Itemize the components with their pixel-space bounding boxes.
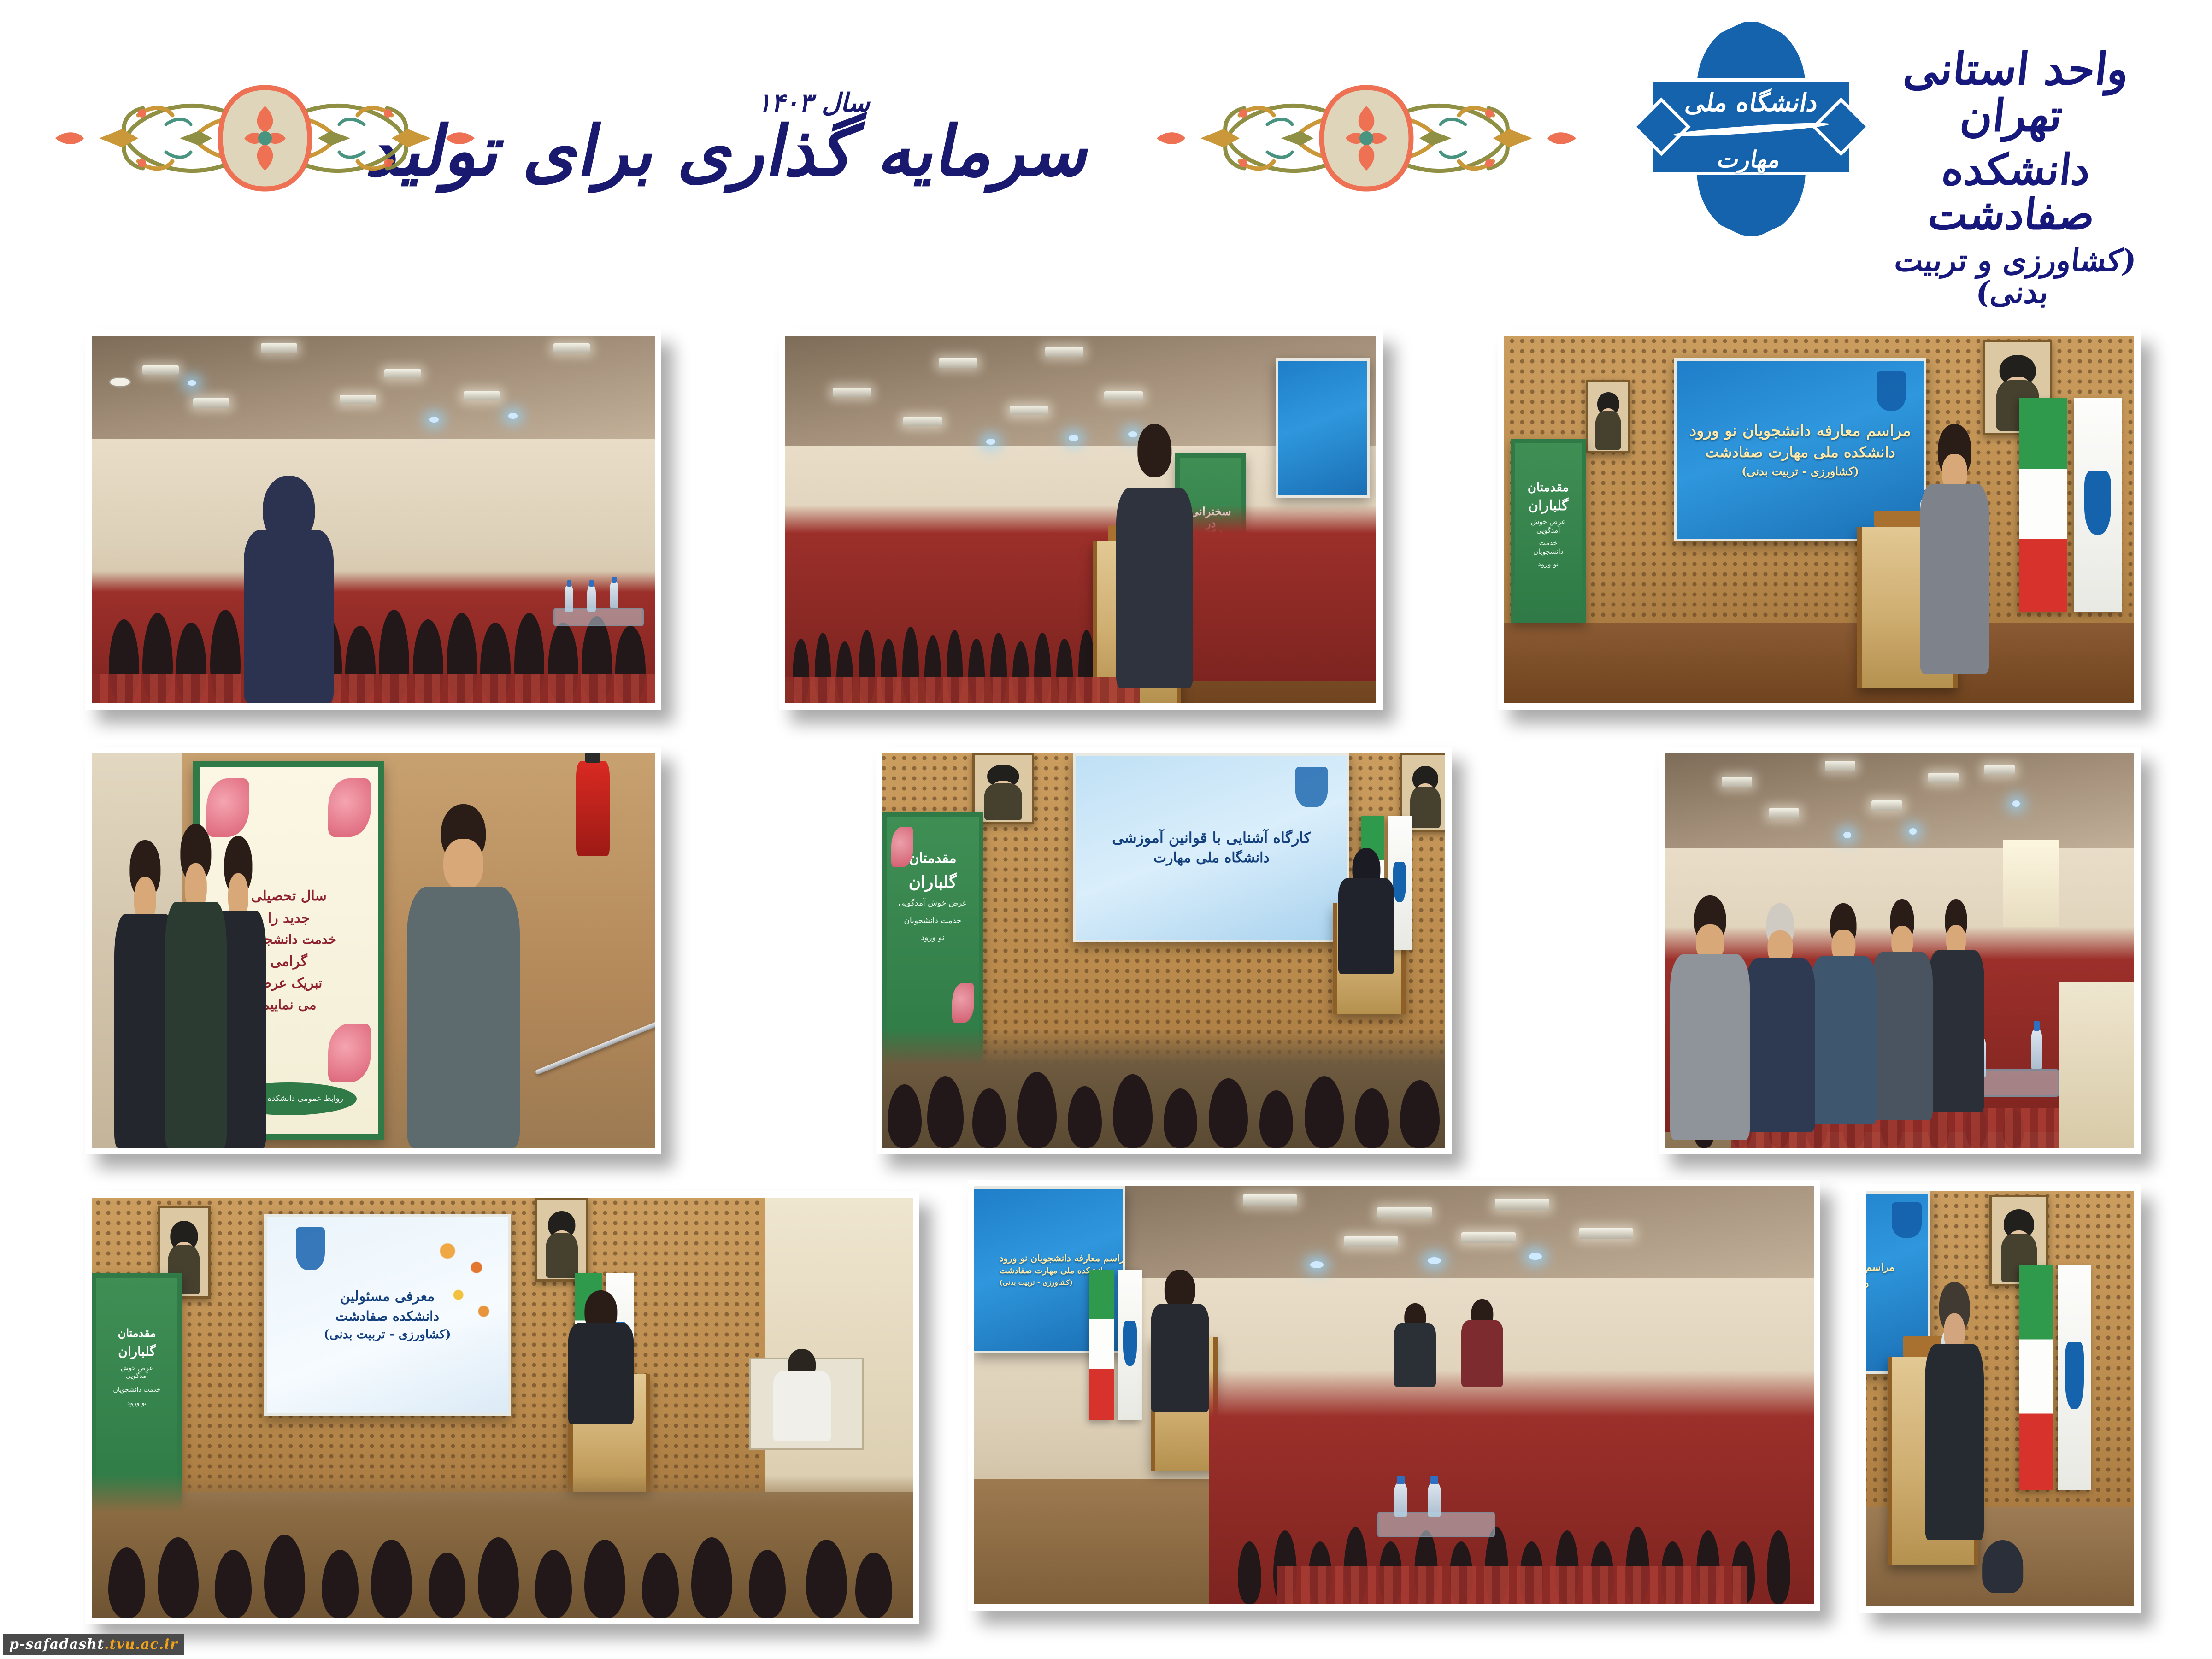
banner-sub-line-3: نو ورود — [1538, 560, 1559, 569]
welcome-stand-banner: مقدمتان گلباران عرض خوش آمدگویی خدمت دان… — [1511, 439, 1586, 623]
slide-line-2: دانشگاه ملی مهارت — [1153, 850, 1270, 866]
iran-flag — [1089, 1270, 1114, 1420]
university-flag — [1118, 1270, 1142, 1420]
slide-line-1: مراسم معارفه دانشجویان — [1866, 1262, 1894, 1273]
photo-collage-grid: سخنرانی در جایگاه و نمای کلی سالن — [0, 295, 2212, 1659]
speaker-person — [1151, 1270, 1210, 1412]
portrait-imam-khomeini — [1586, 380, 1630, 453]
photo-card-seated-guests-and-students[interactable] — [1659, 747, 2141, 1154]
wall-clock-icon — [109, 377, 131, 388]
logo-calligraphy-top: دانشگاه ملی — [1683, 90, 1820, 115]
persian-tazhib-floral-ornament-icon-right — [1129, 69, 1604, 207]
photo-card-senior-speaker-at-podium[interactable]: مراسم معارفه دانشجویان دانشکده ملی مهارت… — [1859, 1184, 2141, 1613]
university-flag — [2074, 398, 2121, 611]
projection-screen: کارگاه آشنایی با قوانین آموزشی دانشگاه م… — [1073, 753, 1349, 942]
slide-line-2: دانشکده صفادشت — [335, 1309, 439, 1324]
speaker-person — [1920, 424, 1989, 674]
slogan-main-text: سرمایه گذاری برای تولید — [531, 113, 1100, 189]
persian-tazhib-floral-ornament-icon-left — [28, 69, 502, 207]
banner-title-line-2: گلباران — [909, 873, 957, 892]
congrats-line-6: می نماییم — [261, 998, 317, 1012]
congrats-line-4: گرامی — [271, 954, 307, 969]
portrait-supreme-leader — [535, 1198, 588, 1282]
photo-card-speaker-with-welcome-slide[interactable]: مراسم معارفه دانشجویان نو ورود دانشکده م… — [1498, 329, 2141, 710]
presenter-person — [1338, 848, 1394, 974]
slide-line-1: معرفی مسئولین — [340, 1289, 435, 1305]
slide-line-2: دانشکده ملی مهارت صفادشت — [1705, 444, 1895, 461]
banner-sub-line-2: خدمت دانشجویان — [1528, 539, 1569, 556]
slide-university-logo-icon — [1295, 767, 1328, 807]
speaker-person — [1116, 424, 1193, 688]
photo-card-speaker-at-podium-wide-hall[interactable]: سخنرانی در جایگاه و نمای کلی سالن — [779, 329, 1382, 710]
brand-text-block: واحد استانی تهران دانشکده صفادشت (کشاورز… — [1853, 14, 2175, 308]
watermark-prefix: p-safadasht — [9, 1636, 104, 1653]
banner-title-line-2: گلباران — [118, 1345, 155, 1359]
iran-flag — [2019, 398, 2067, 611]
slide-line-1: مراسم معارفه دانشجویان نو ورود — [1689, 422, 1911, 440]
banner-sub-line-2: خدمت دانشجویان — [113, 1386, 161, 1394]
banner-sub-line-3: نو ورود — [921, 933, 944, 943]
slide-line-2: دانشکده ملی مهارت — [1866, 1278, 1869, 1289]
slogan-text-block: سال ۱۴۰۳ سرمایه گذاری برای تولید — [539, 88, 1092, 189]
site-watermark: p-safadasht.tvu.ac.ir — [3, 1634, 184, 1655]
university-brand-block: دانشگاه ملی مهارت واحد استانی تهران دانش… — [1631, 0, 2212, 276]
brand-line-faculty: دانشکده صفادشت — [1848, 147, 2180, 236]
photo-card-group-photo-with-congratulation-banner[interactable]: سال تحصیلی جدید را خدمت دانشجویان گرامی … — [85, 747, 661, 1154]
poster-header: دانشگاه ملی مهارت واحد استانی تهران دانش… — [0, 0, 2212, 295]
photo-card-workshop-educational-regulations[interactable]: کارگاه آشنایی با قوانین آموزشی دانشگاه م… — [876, 747, 1452, 1154]
autumn-leaves-decoration — [426, 1229, 498, 1339]
slide-line-3: (کشاورزی - تربیت بدنی) — [1000, 1279, 1073, 1287]
slide-university-logo-icon — [1892, 1202, 1922, 1238]
iran-flag — [2019, 1265, 2053, 1490]
presenter-person — [568, 1290, 634, 1425]
slogan-strip: سال ۱۴۰۳ سرمایه گذاری برای تولید — [0, 0, 1631, 276]
fire-extinguisher-icon — [576, 761, 610, 856]
congrats-line-2: جدید را — [268, 911, 310, 926]
university-flag — [2058, 1265, 2091, 1490]
watermark-suffix: .tvu.ac.ir — [104, 1636, 177, 1653]
senior-speaker-person — [1925, 1282, 1984, 1540]
logo-swoosh-stroke — [1673, 120, 1830, 139]
photo-card-introducing-faculty-officials[interactable]: معرفی مسئولین دانشکده صفادشت (کشاورزی - … — [85, 1191, 919, 1624]
banner-title-line-1: مقدمتان — [1528, 481, 1569, 494]
logo-calligraphy-bottom: مهارت — [1716, 148, 1783, 171]
banner-sub-line-2: خدمت دانشجویان — [904, 916, 961, 926]
slide-university-logo-icon — [296, 1227, 325, 1271]
banner-sub-line-1: عرض خوش آمدگویی — [109, 1365, 165, 1381]
brand-line-province: واحد استانی تهران — [1847, 46, 2180, 139]
banner-title-line-1: مقدمتان — [118, 1327, 156, 1339]
banner-sub-line-1: عرض خوش آمدگویی — [898, 899, 967, 908]
banner-title-line-2: گلباران — [1528, 498, 1568, 513]
slide-university-logo-icon — [1877, 371, 1906, 411]
banner-sub-line-3: نو ورود — [127, 1400, 147, 1408]
banner-title-line-1: مقدمتان — [909, 851, 956, 866]
slide-line-3: (کشاورزی - تربیت بدنی) — [1741, 465, 1859, 478]
slide-line-1: کارگاه آشنایی با قوانین آموزشی — [1112, 829, 1311, 847]
banner-sub-line-1: عرض خوش آمدگویی — [1528, 518, 1569, 535]
photo-card-audience-standing-anthem[interactable] — [85, 329, 661, 710]
projection-screen: معرفی مسئولین دانشکده صفادشت (کشاورزی - … — [264, 1214, 511, 1416]
flag-pair — [2008, 398, 2122, 611]
national-skills-university-quatrefoil-logo-icon: دانشگاه ملی مهارت — [1650, 14, 1853, 235]
slide-line-1: مراسم معارفه دانشجویان نو ورود — [1000, 1253, 1125, 1264]
photo-card-hall-overview-with-speaker[interactable]: مراسم معارفه دانشجویان نو ورود دانشکده م… — [968, 1180, 1820, 1611]
